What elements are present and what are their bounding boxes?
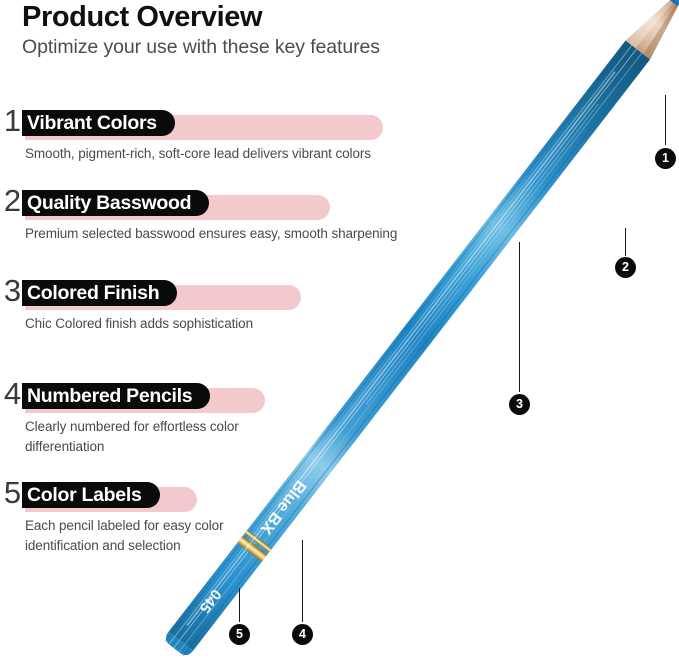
feature-title-2: Quality Basswood [27, 190, 191, 216]
pill-bar: Color Labels [22, 482, 160, 508]
feature-title-5: Color Labels [27, 482, 142, 508]
pill-bar: Numbered Pencils [22, 383, 210, 409]
callout-leader-4 [302, 540, 303, 622]
feature-description-4: Clearly numbered for effortless color di… [25, 417, 280, 457]
feature-description-5: Each pencil labeled for easy color ident… [25, 516, 257, 556]
feature-description-3: Chic Colored finish adds sophistication [25, 314, 465, 334]
feature-pill-5: Color Labels [22, 482, 160, 508]
callout-marker-4[interactable]: 4 [292, 624, 313, 645]
feature-pill-4: Numbered Pencils [22, 383, 210, 409]
callout-marker-1[interactable]: 1 [655, 148, 676, 169]
feature-pill-3: Colored Finish [22, 280, 177, 306]
feature-number-4: 4 [2, 377, 22, 411]
feature-title-1: Vibrant Colors [27, 110, 157, 136]
callout-leader-2 [625, 228, 626, 256]
callout-marker-3[interactable]: 3 [509, 394, 530, 415]
feature-pill-1: Vibrant Colors [22, 110, 175, 136]
feature-number-5: 5 [2, 476, 22, 510]
feature-number-2: 2 [2, 184, 22, 218]
feature-number-3: 3 [2, 274, 22, 308]
pill-bar: Colored Finish [22, 280, 177, 306]
feature-number-1: 1 [2, 104, 22, 138]
feature-description-1: Smooth, pigment-rich, soft-core lead del… [25, 144, 465, 164]
callout-marker-2[interactable]: 2 [615, 257, 636, 278]
callout-marker-5[interactable]: 5 [229, 624, 250, 645]
callout-leader-5 [239, 588, 240, 622]
pill-bar: Quality Basswood [22, 190, 209, 216]
feature-pill-2: Quality Basswood [22, 190, 209, 216]
pill-bar: Vibrant Colors [22, 110, 175, 136]
feature-title-4: Numbered Pencils [27, 383, 192, 409]
infographic-canvas: Product Overview Optimize your use with … [0, 0, 679, 660]
feature-title-3: Colored Finish [27, 280, 159, 306]
feature-description-2: Premium selected basswood ensures easy, … [25, 224, 465, 244]
callout-leader-1 [665, 95, 666, 145]
callout-leader-3 [519, 242, 520, 392]
